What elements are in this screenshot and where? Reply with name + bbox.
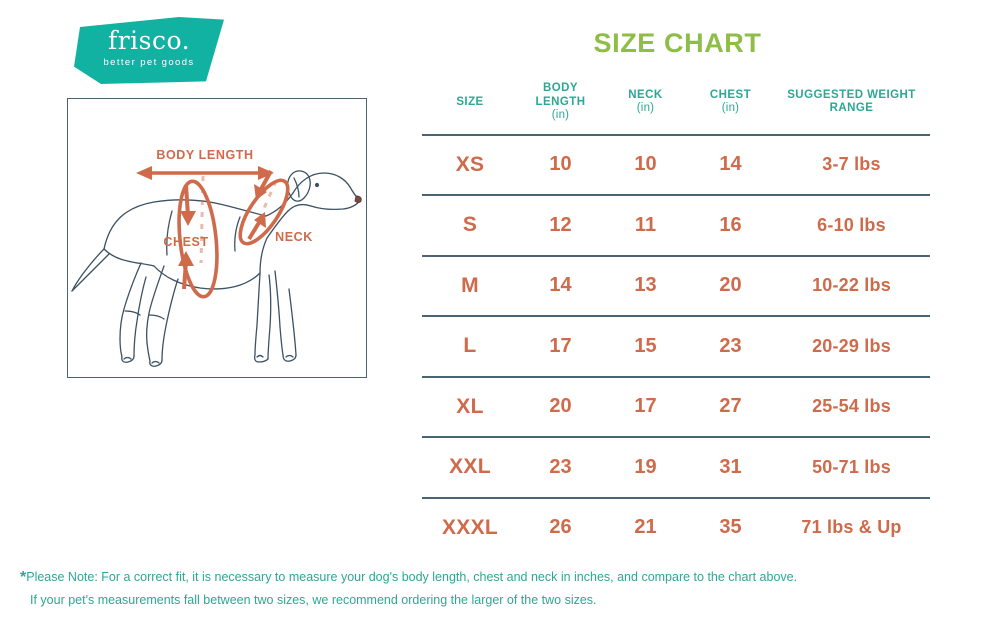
chest-label: CHEST	[163, 235, 208, 249]
column-header-neck: NECK (in)	[603, 82, 688, 135]
cell-body-length: 12	[518, 195, 603, 256]
table-row: L 17 15 23 20-29 lbs	[422, 316, 930, 377]
body-length-arrow	[136, 166, 274, 180]
cell-chest: 27	[688, 377, 773, 438]
cell-chest: 20	[688, 256, 773, 317]
cell-body-length: 23	[518, 437, 603, 498]
logo-brand-name: frisco.	[74, 28, 224, 53]
body-length-label: BODY LENGTH	[156, 148, 253, 162]
size-chart-page: frisco. better pet goods	[0, 0, 995, 630]
column-header-size-label: SIZE	[456, 96, 483, 108]
cell-neck: 15	[603, 316, 688, 377]
cell-chest: 14	[688, 135, 773, 196]
cell-weight: 6-10 lbs	[773, 195, 930, 256]
cell-body-length: 17	[518, 316, 603, 377]
column-header-size: SIZE	[422, 82, 518, 135]
column-header-chest-unit: (in)	[688, 102, 773, 116]
footnote-line-2: If your pet's measurements fall between …	[20, 591, 975, 610]
cell-size: S	[422, 195, 518, 256]
cell-chest: 23	[688, 316, 773, 377]
cell-neck: 17	[603, 377, 688, 438]
cell-size: XL	[422, 377, 518, 438]
footnote: *Please Note: For a correct fit, it is n…	[20, 566, 975, 610]
cell-size: XXXL	[422, 498, 518, 558]
dog-illustration-svg: BODY LENGTH CHEST	[68, 99, 365, 376]
column-header-chest: CHEST (in)	[688, 82, 773, 135]
column-header-neck-label: NECK	[628, 89, 662, 101]
cell-neck: 10	[603, 135, 688, 196]
cell-neck: 13	[603, 256, 688, 317]
table-row: S 12 11 16 6-10 lbs	[422, 195, 930, 256]
logo-text-group: frisco. better pet goods	[74, 28, 224, 68]
table-body: XS 10 10 14 3-7 lbs S 12 11 16 6-10 lbs …	[422, 135, 930, 558]
cell-size: XS	[422, 135, 518, 196]
logo-tagline: better pet goods	[74, 58, 224, 68]
cell-weight: 10-22 lbs	[773, 256, 930, 317]
column-header-chest-label: CHEST	[710, 89, 751, 101]
cell-body-length: 20	[518, 377, 603, 438]
table-row: XS 10 10 14 3-7 lbs	[422, 135, 930, 196]
column-header-weight-range: SUGGESTED WEIGHT RANGE	[773, 82, 930, 135]
cell-neck: 21	[603, 498, 688, 558]
cell-weight: 50-71 lbs	[773, 437, 930, 498]
cell-body-length: 26	[518, 498, 603, 558]
footnote-line-1: Please Note: For a correct fit, it is ne…	[26, 570, 797, 584]
table-row: XXXL 26 21 35 71 lbs & Up	[422, 498, 930, 558]
column-header-body-length: BODY LENGTH (in)	[518, 82, 603, 135]
cell-weight: 71 lbs & Up	[773, 498, 930, 558]
cell-chest: 35	[688, 498, 773, 558]
cell-weight: 20-29 lbs	[773, 316, 930, 377]
cell-body-length: 14	[518, 256, 603, 317]
column-header-weight-range-label: SUGGESTED WEIGHT RANGE	[787, 89, 916, 115]
column-header-body-length-unit: (in)	[518, 109, 603, 123]
cell-weight: 25-54 lbs	[773, 377, 930, 438]
cell-size: XXL	[422, 437, 518, 498]
size-chart-table: SIZE BODY LENGTH (in) NECK (in) CHEST (i…	[422, 82, 930, 557]
frisco-logo: frisco. better pet goods	[74, 17, 224, 84]
page-title: SIZE CHART	[420, 28, 935, 59]
cell-size: M	[422, 256, 518, 317]
cell-body-length: 10	[518, 135, 603, 196]
cell-size: L	[422, 316, 518, 377]
table-row: XXL 23 19 31 50-71 lbs	[422, 437, 930, 498]
dog-measurement-diagram: BODY LENGTH CHEST	[67, 98, 367, 378]
cell-chest: 31	[688, 437, 773, 498]
column-header-body-length-label: BODY LENGTH	[536, 82, 586, 108]
table-row: M 14 13 20 10-22 lbs	[422, 256, 930, 317]
table-header-row: SIZE BODY LENGTH (in) NECK (in) CHEST (i…	[422, 82, 930, 135]
table-header: SIZE BODY LENGTH (in) NECK (in) CHEST (i…	[422, 82, 930, 135]
cell-chest: 16	[688, 195, 773, 256]
cell-neck: 19	[603, 437, 688, 498]
neck-label: NECK	[275, 230, 313, 244]
cell-weight: 3-7 lbs	[773, 135, 930, 196]
table-row: XL 20 17 27 25-54 lbs	[422, 377, 930, 438]
column-header-neck-unit: (in)	[603, 102, 688, 116]
cell-neck: 11	[603, 195, 688, 256]
